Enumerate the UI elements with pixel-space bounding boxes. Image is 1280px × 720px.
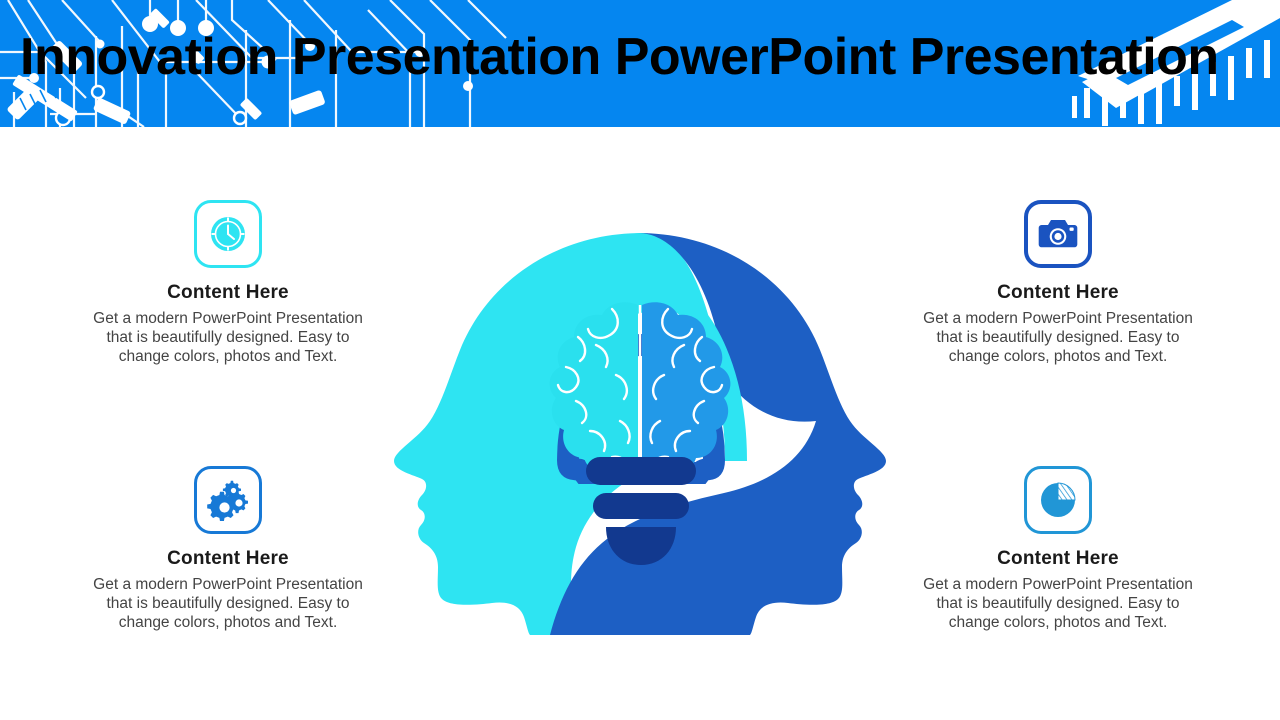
camera-icon-box[interactable] — [1024, 200, 1092, 268]
content-block-body: Get a modern PowerPoint Presentation tha… — [78, 309, 378, 367]
gears-icon-box[interactable] — [194, 466, 262, 534]
content-block-bottom-right[interactable]: Content Here Get a modern PowerPoint Pre… — [908, 466, 1208, 633]
clock-icon-box[interactable] — [194, 200, 262, 268]
page-title: Innovation Presentation PowerPoint Prese… — [20, 28, 1280, 88]
camera-icon — [1038, 217, 1078, 251]
clock-icon — [208, 214, 248, 254]
brain-icon — [550, 302, 731, 480]
content-block-bottom-left[interactable]: Content Here Get a modern PowerPoint Pre… — [78, 466, 378, 633]
content-block-title: Content Here — [908, 282, 1208, 304]
content-block-title: Content Here — [78, 282, 378, 304]
content-block-body: Get a modern PowerPoint Presentation tha… — [908, 575, 1208, 633]
content-block-body: Get a modern PowerPoint Presentation tha… — [908, 309, 1208, 367]
pie-chart-icon-box[interactable] — [1024, 466, 1092, 534]
content-block-title: Content Here — [78, 548, 378, 570]
content-block-body: Get a modern PowerPoint Presentation tha… — [78, 575, 378, 633]
two-heads-with-lightbulb-brain-graphic — [380, 225, 900, 635]
content-block-top-left[interactable]: Content Here Get a modern PowerPoint Pre… — [78, 200, 378, 367]
pie-chart-icon — [1038, 480, 1078, 520]
gears-icon — [207, 479, 249, 521]
header-band: Innovation Presentation PowerPoint Prese… — [0, 0, 1280, 127]
content-block-title: Content Here — [908, 548, 1208, 570]
content-block-top-right[interactable]: Content Here Get a modern PowerPoint Pre… — [908, 200, 1208, 367]
